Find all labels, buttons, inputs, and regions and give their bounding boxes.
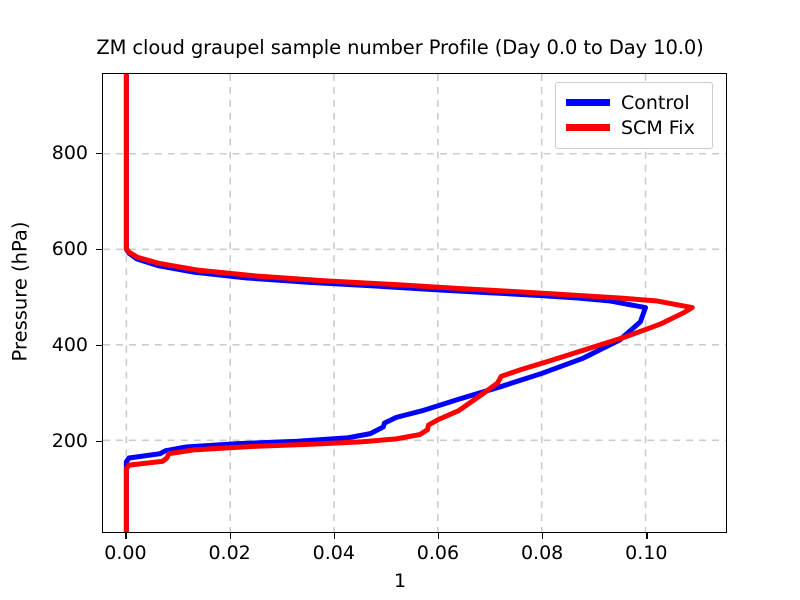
x-tick-mark [438, 533, 439, 539]
y-tick-label: 400 [52, 334, 88, 356]
x-tick-mark [334, 533, 335, 539]
legend-swatch-icon [566, 99, 610, 106]
y-tick-label: 600 [52, 238, 88, 260]
x-tick-mark [646, 533, 647, 539]
chart-legend: ControlSCM Fix [555, 82, 713, 149]
legend-item-scm-fix[interactable]: SCM Fix [566, 115, 702, 140]
chart-title: ZM cloud graupel sample number Profile (… [0, 36, 800, 59]
x-axis-label: 1 [0, 570, 800, 592]
x-tick-mark [125, 533, 126, 539]
x-tick-label: 0.02 [208, 542, 250, 564]
legend-label: Control [621, 92, 690, 114]
x-tick-label: 0.04 [313, 542, 355, 564]
y-tick-label: 200 [52, 430, 88, 452]
x-tick-label: 0.00 [104, 542, 146, 564]
y-axis-label: Pressure (hPa) [9, 92, 32, 492]
x-tick-label: 0.10 [625, 542, 667, 564]
legend-swatch-icon [566, 124, 610, 131]
x-tick-mark [542, 533, 543, 539]
x-tick-mark [230, 533, 231, 539]
legend-item-control[interactable]: Control [566, 90, 702, 115]
legend-label: SCM Fix [621, 117, 695, 139]
x-tick-label: 0.08 [521, 542, 563, 564]
chart-figure: ZM cloud graupel sample number Profile (… [0, 0, 800, 600]
x-tick-label: 0.06 [417, 542, 459, 564]
y-tick-label: 800 [52, 142, 88, 164]
